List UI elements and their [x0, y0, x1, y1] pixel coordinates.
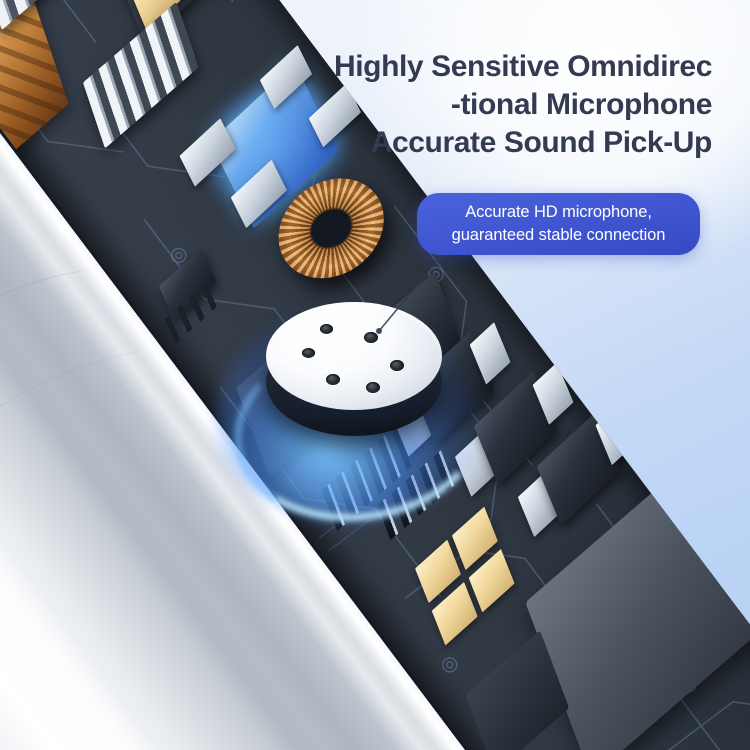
callout-line-1: Accurate HD microphone, — [465, 201, 652, 224]
microphone-capsule — [252, 292, 452, 472]
page-title: Highly Sensitive Omnidirec -tional Micro… — [250, 48, 712, 162]
headline-line-1: Highly Sensitive Omnidirec — [250, 48, 712, 86]
headline-line-3: Accurate Sound Pick-Up — [250, 124, 712, 162]
callout-line-2: guaranteed stable connection — [452, 224, 666, 247]
product-marketing-image: Highly Sensitive Omnidirec -tional Micro… — [0, 0, 750, 750]
microphone-hole — [364, 332, 378, 343]
microphone-hole — [366, 382, 380, 393]
microphone-hole — [326, 374, 340, 385]
microphone-capsule-face — [266, 302, 442, 410]
microphone-hole — [320, 324, 333, 334]
microphone-hole — [302, 348, 315, 358]
headline-line-2: -tional Microphone — [250, 86, 712, 124]
microphone-hole — [390, 360, 404, 371]
feature-callout-badge: Accurate HD microphone, guaranteed stabl… — [417, 193, 700, 255]
